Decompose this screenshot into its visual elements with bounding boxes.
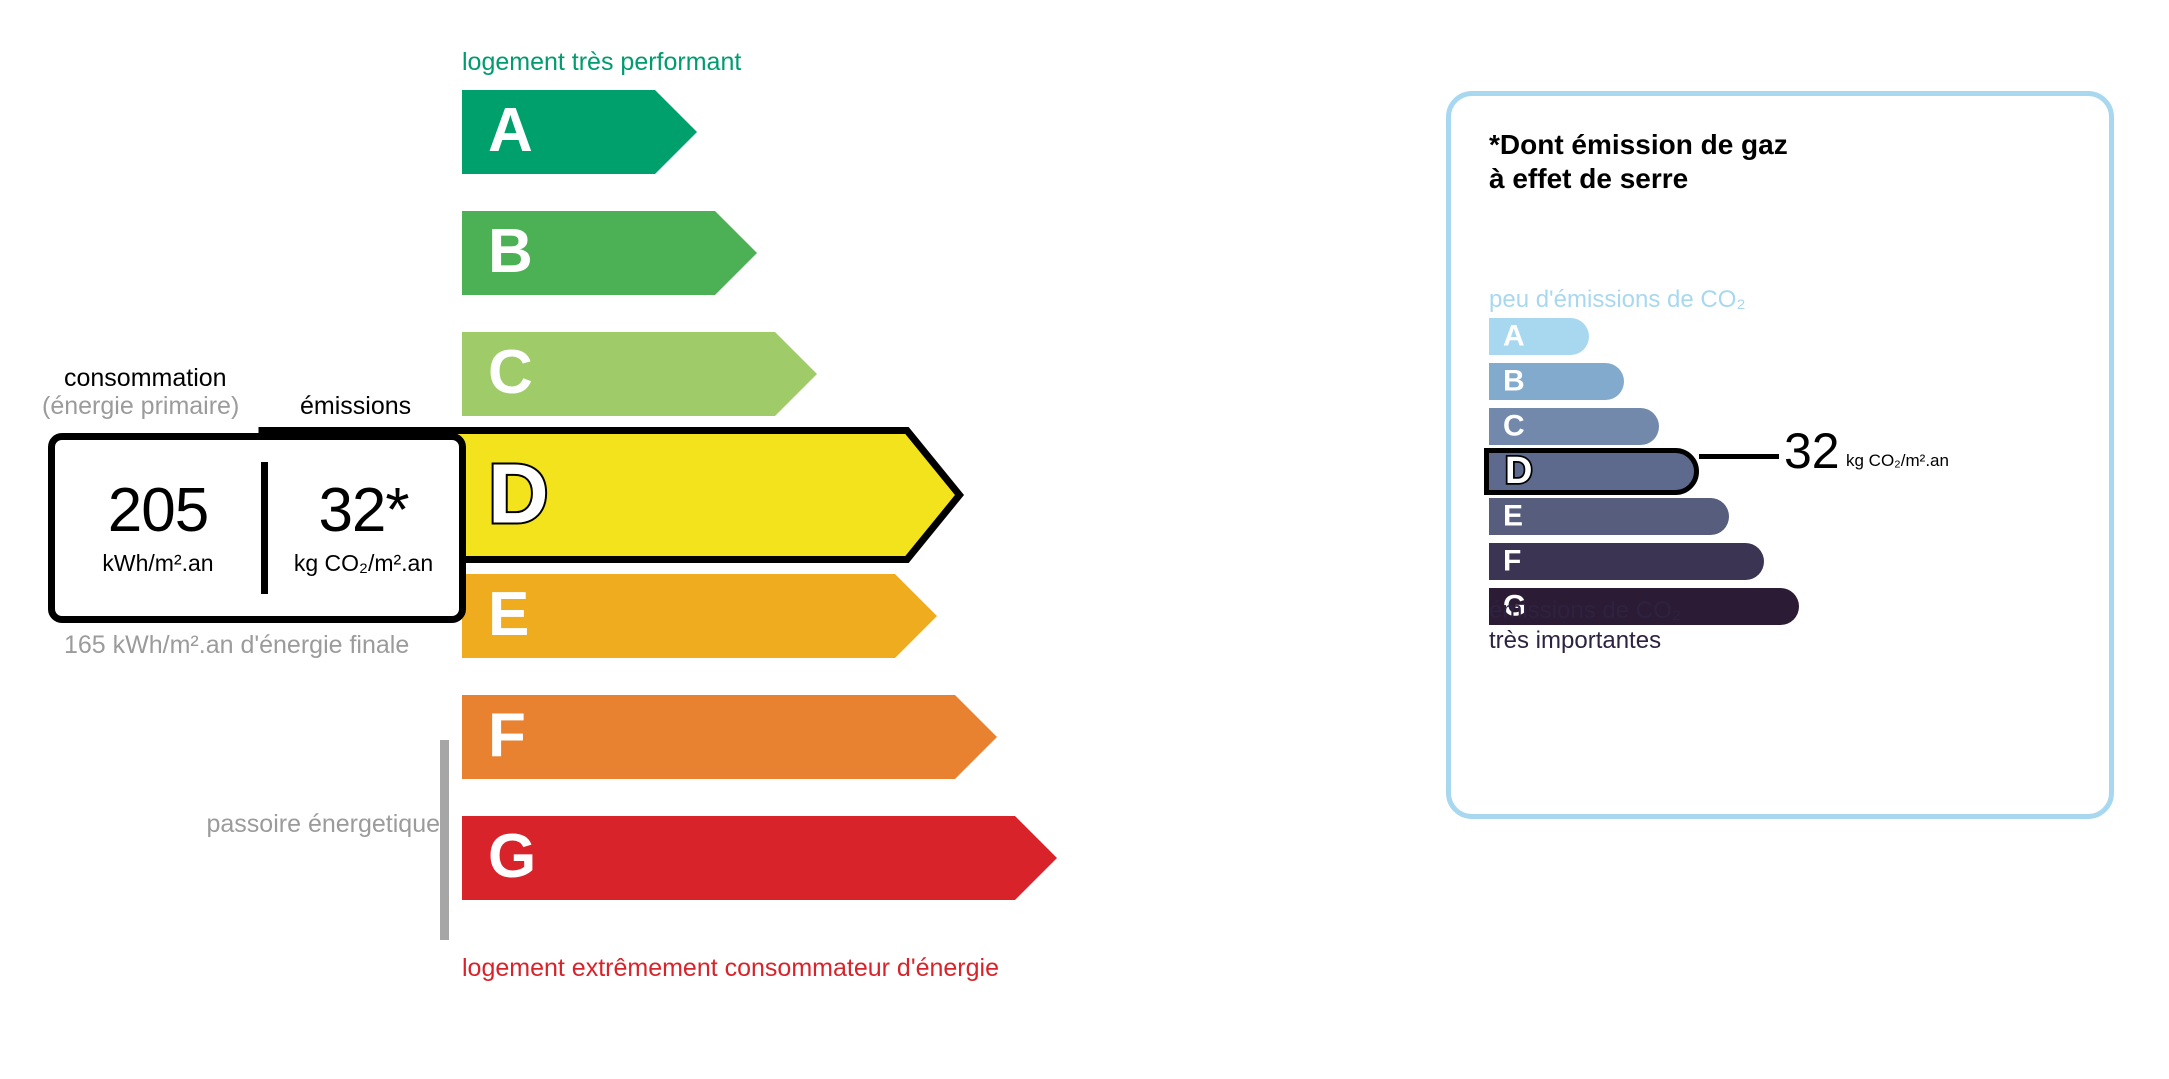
energy-bar-shape-e (462, 574, 937, 658)
ges-bar-f: F (1489, 543, 1764, 580)
ges-bar-d: D (1484, 448, 1699, 495)
ges-bar-letter-e: E (1503, 501, 1523, 531)
ges-callout-value: 32 (1784, 426, 1840, 476)
ges-top-label: peu d'émissions de CO₂ (1489, 286, 1746, 314)
ges-bar-letter-b: B (1503, 366, 1525, 396)
consumption-value-cell: 205 kWh/m².an (55, 440, 261, 616)
passoire-marker-bar (440, 740, 449, 940)
consumption-heading-line1: consommation (64, 364, 227, 393)
ges-bar-letter-c: C (1503, 411, 1525, 441)
energy-bar-letter-d: D (488, 451, 549, 535)
ges-bar-a: A (1489, 318, 1589, 355)
ges-panel: *Dont émission de gaz à effet de serre p… (1446, 91, 2114, 819)
energy-bar-g: G (462, 816, 1057, 900)
ges-bars-group: ABCDEFG (1489, 318, 1909, 633)
ges-panel-title: *Dont émission de gaz à effet de serre (1489, 128, 1788, 196)
energy-bar-letter-c: C (488, 342, 533, 404)
energy-bar-b: B (462, 211, 757, 295)
dpe-energy-panel: logement très performant ABCDEFG logemen… (0, 0, 1400, 1079)
energy-scale-bottom-label: logement extrêmement consommateur d'éner… (462, 954, 999, 983)
value-box: 205 kWh/m².an 32* kg CO₂/m².an (48, 433, 466, 623)
energy-bar-letter-g: G (488, 826, 536, 888)
energy-scale-top-label: logement très performant (462, 48, 741, 77)
ges-bar-letter-d: D (1505, 452, 1532, 490)
emissions-heading: émissions (300, 392, 411, 421)
final-energy-note: 165 kWh/m².an d'énergie finale (64, 629, 409, 662)
value-box-divider (261, 462, 268, 594)
ges-callout-line (1699, 454, 1779, 459)
energy-bar-letter-a: A (488, 100, 533, 162)
ges-bar-b: B (1489, 363, 1624, 400)
emissions-unit: kg CO₂/m².an (294, 550, 433, 577)
energy-bar-c: C (462, 332, 817, 416)
ges-bar-c: C (1489, 408, 1659, 445)
energy-bar-f: F (462, 695, 997, 779)
consumption-value: 205 (108, 480, 208, 542)
ges-bar-e: E (1489, 498, 1729, 535)
passoire-energetique-label: passoire énergetique (200, 808, 440, 841)
consumption-heading-line2: (énergie primaire) (42, 392, 239, 421)
energy-bar-a: A (462, 90, 697, 174)
energy-bar-shape-f (462, 695, 997, 779)
energy-bars-group: ABCDEFG (462, 90, 1282, 940)
emissions-value-cell: 32* kg CO₂/m².an (268, 440, 459, 616)
energy-bar-letter-b: B (488, 221, 533, 283)
emissions-value: 32* (318, 480, 408, 542)
ges-bottom-label: émissions de CO₂ très importantes (1489, 596, 1681, 656)
ges-bar-letter-f: F (1503, 546, 1521, 576)
energy-bar-d-selected: D (462, 427, 963, 563)
energy-bar-letter-f: F (488, 705, 526, 767)
energy-bar-shape-g (462, 816, 1057, 900)
consumption-unit: kWh/m².an (102, 550, 213, 577)
ges-callout-unit: kg CO₂/m².an (1846, 451, 1949, 471)
energy-bar-e: E (462, 574, 937, 658)
ges-bar-letter-a: A (1503, 321, 1525, 351)
energy-bar-letter-e: E (488, 584, 529, 646)
